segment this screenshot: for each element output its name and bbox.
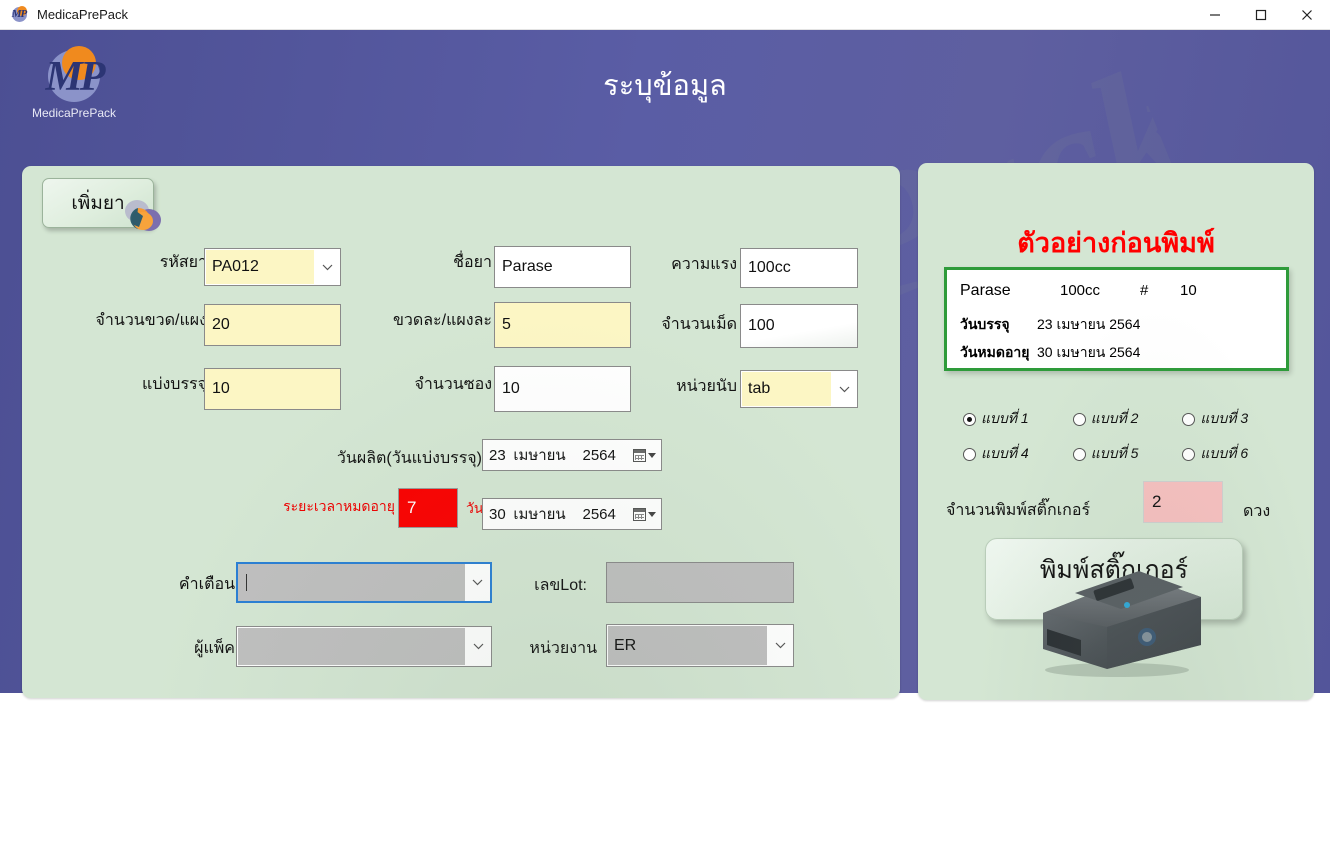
template-radio-row-1: แบบที่ 1 แบบที่ 2 แบบที่ 3 (963, 408, 1283, 430)
template-radio-2-label: แบบที่ 2 (1091, 408, 1139, 430)
window-body: MedicaPrePack MP MedicaPrePack ระบุข้อมู… (0, 30, 1330, 693)
close-button[interactable] (1284, 0, 1330, 30)
label-preview: Parase 100cc # 10 วันบรรจุ 23 เมษายน 256… (944, 267, 1289, 371)
repack-input[interactable]: 10 (204, 368, 341, 410)
add-drug-button-label: เพิ่มยา (71, 188, 124, 218)
bottles-label: จำนวนขวด/แผง (44, 308, 207, 333)
pill-icon (121, 199, 165, 235)
warning-label: คำเตือน (140, 572, 235, 597)
template-radio-6-label: แบบที่ 6 (1200, 443, 1248, 465)
tablets-label: จำนวนเม็ด (619, 312, 737, 337)
printer-icon (1021, 557, 1211, 677)
department-label: หน่วยงาน (492, 636, 597, 661)
packer-combobox[interactable] (236, 626, 492, 667)
sticker-unit-label: ดวง (1243, 499, 1270, 524)
drug-code-value: PA012 (206, 250, 314, 284)
chevron-down-icon[interactable] (465, 627, 491, 666)
window-controls (1192, 0, 1330, 30)
preview-exp-value: 30 เมษายน 2564 (1037, 342, 1140, 364)
template-radio-4-label: แบบที่ 4 (981, 443, 1029, 465)
preview-exp-label: วันหมดอายุ (960, 342, 1029, 364)
chevron-down-icon[interactable] (831, 371, 857, 407)
app-logo-text: MP (10, 8, 28, 20)
department-combobox[interactable]: ER (606, 624, 794, 667)
expiry-period-input[interactable]: 7 (398, 488, 458, 528)
mfg-date-year: 2564 (583, 447, 634, 464)
repack-label: แบ่งบรรจุ (82, 372, 207, 397)
mfg-date-day: 23 (483, 447, 513, 464)
sticker-count-label: จำนวนพิมพ์สติ๊กเกอร์ (946, 498, 1090, 523)
mfg-date-month: เมษายน (513, 443, 582, 467)
application-window: MP MedicaPrePack MedicaPrePack MP Medica… (0, 0, 1330, 693)
lot-label: เลขLot: (502, 573, 587, 598)
preview-strength: 100cc (1060, 282, 1100, 299)
strength-input[interactable]: 100cc (740, 248, 858, 288)
sachets-label: จำนวนซอง (362, 372, 492, 397)
print-sticker-button[interactable]: พิมพ์สติ๊กเกอร์ (985, 538, 1243, 620)
maximize-button[interactable] (1238, 0, 1284, 30)
warning-combobox[interactable] (236, 562, 492, 603)
radio-icon[interactable] (1073, 413, 1086, 426)
calendar-dropdown-button[interactable] (633, 449, 656, 462)
strength-label: ความแรง (632, 252, 737, 277)
expiry-date-month: เมษายน (513, 502, 582, 526)
drug-name-input[interactable]: Parase (494, 246, 631, 288)
tablets-input[interactable]: 100 (740, 304, 858, 348)
lot-input[interactable] (606, 562, 794, 603)
minimize-button[interactable] (1192, 0, 1238, 30)
bottles-input[interactable]: 20 (204, 304, 341, 346)
per-bottle-input[interactable]: 5 (494, 302, 631, 348)
unit-label: หน่วยนับ (627, 374, 737, 399)
mfg-date-picker[interactable]: 23 เมษายน 2564 (482, 439, 662, 471)
warning-value (238, 564, 465, 601)
template-radio-5-label: แบบที่ 5 (1091, 443, 1139, 465)
template-radio-row-2: แบบที่ 4 แบบที่ 5 แบบที่ 6 (963, 443, 1283, 465)
chevron-down-icon (648, 453, 656, 458)
radio-icon[interactable] (963, 413, 976, 426)
mfg-date-label: วันผลิต(วันแบ่งบรรจุ) (312, 446, 482, 471)
data-entry-panel: เพิ่มยา รหัสยา PA012 ชื่อยา Par (22, 166, 900, 698)
template-radio-4[interactable]: แบบที่ 4 (963, 443, 1029, 465)
expiry-date-day: 30 (483, 506, 513, 523)
template-radio-1-label: แบบที่ 1 (981, 408, 1029, 430)
add-drug-button[interactable]: เพิ่มยา (42, 178, 154, 228)
brand-logo-caption: MedicaPrePack (28, 106, 120, 120)
radio-icon[interactable] (1073, 448, 1086, 461)
unit-value: tab (742, 372, 831, 406)
preview-title: ตัวอย่างก่อนพิมพ์ (918, 221, 1314, 264)
page-title: ระบุข้อมูล (0, 62, 1330, 108)
department-value: ER (608, 626, 767, 665)
title-bar: MP MedicaPrePack (0, 0, 1330, 30)
preview-drug-name: Parase (960, 282, 1011, 300)
template-radio-6[interactable]: แบบที่ 6 (1182, 443, 1248, 465)
template-radio-3-label: แบบที่ 3 (1200, 408, 1248, 430)
window-title: MedicaPrePack (37, 7, 128, 22)
preview-mfg-label: วันบรรจุ (960, 314, 1010, 336)
print-preview-panel: ตัวอย่างก่อนพิมพ์ Parase 100cc # 10 วันบ… (918, 163, 1314, 700)
drug-name-label: ชื่อยา (382, 250, 492, 275)
radio-icon[interactable] (963, 448, 976, 461)
calendar-icon (633, 508, 646, 521)
preview-quantity: 10 (1180, 282, 1197, 299)
unit-combobox[interactable]: tab (740, 370, 858, 408)
drug-code-label: รหัสยา (82, 250, 207, 275)
template-radio-3[interactable]: แบบที่ 3 (1182, 408, 1248, 430)
template-radio-1[interactable]: แบบที่ 1 (963, 408, 1029, 430)
calendar-dropdown-button[interactable] (633, 508, 656, 521)
preview-mfg-value: 23 เมษายน 2564 (1037, 314, 1140, 336)
template-radio-5[interactable]: แบบที่ 5 (1073, 443, 1139, 465)
packer-label: ผู้แพ็ค (140, 636, 235, 661)
chevron-down-icon (648, 512, 656, 517)
expiry-period-label: ระยะเวลาหมดอายุ (240, 496, 395, 518)
packer-value (238, 628, 465, 665)
chevron-down-icon[interactable] (464, 564, 490, 601)
chevron-down-icon[interactable] (314, 249, 340, 285)
per-bottle-label: ขวดละ/แผงละ (342, 308, 492, 333)
sticker-count-input[interactable]: 2 (1143, 481, 1223, 523)
sachets-input[interactable]: 10 (494, 366, 631, 412)
radio-icon[interactable] (1182, 413, 1195, 426)
preview-hash-symbol: # (1140, 282, 1148, 299)
app-logo-icon: MP (10, 6, 28, 24)
drug-code-combobox[interactable]: PA012 (204, 248, 341, 286)
chevron-down-icon[interactable] (767, 625, 793, 666)
radio-icon[interactable] (1182, 448, 1195, 461)
calendar-icon (633, 449, 646, 462)
expiry-date-picker[interactable]: 30 เมษายน 2564 (482, 498, 662, 530)
expiry-date-year: 2564 (583, 506, 634, 523)
template-radio-2[interactable]: แบบที่ 2 (1073, 408, 1139, 430)
